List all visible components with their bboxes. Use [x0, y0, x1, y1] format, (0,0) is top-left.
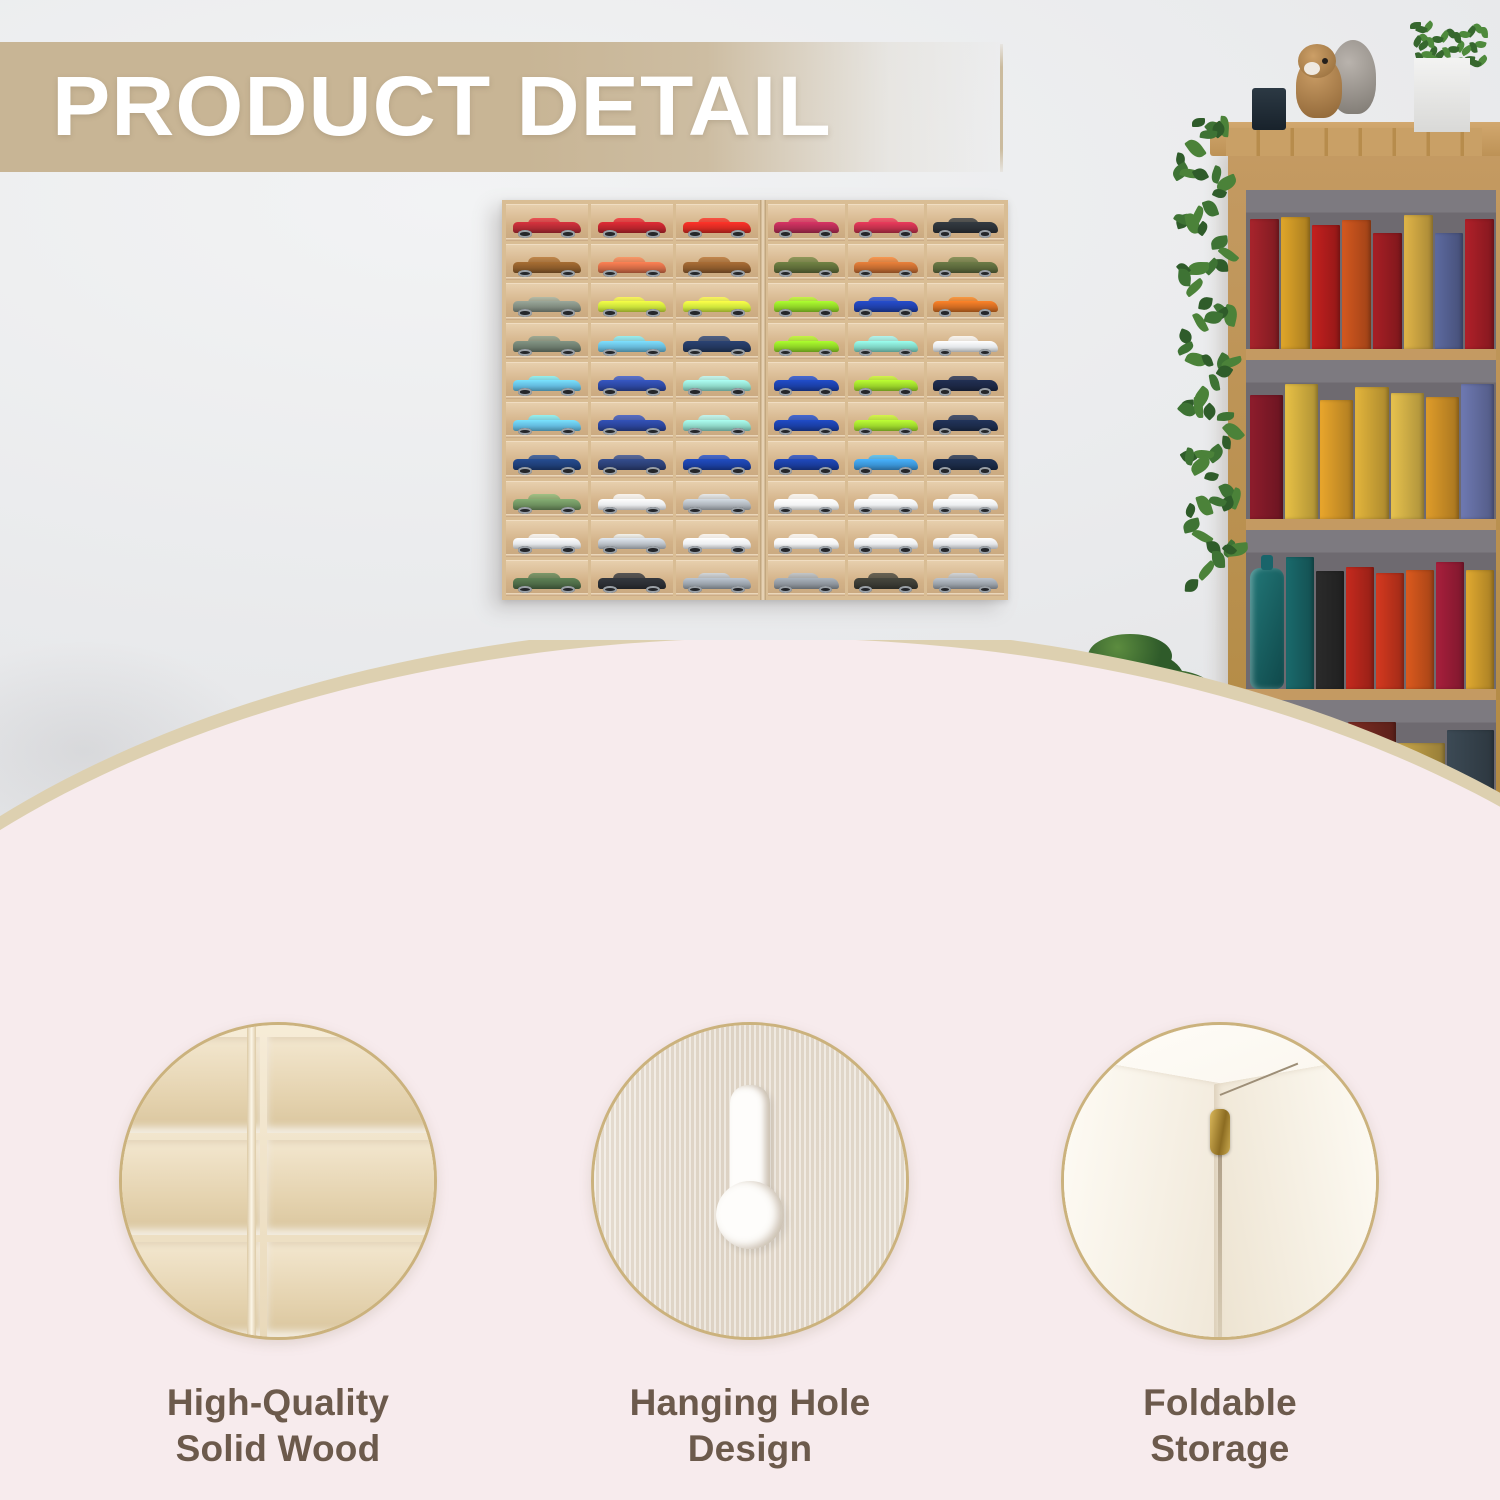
display-case-cell — [927, 402, 1004, 439]
squirrel-eye — [1322, 58, 1328, 64]
hero-room-scene: Your life PRODUCT DETAIL — [0, 0, 1500, 1005]
ivy-leaf — [1198, 296, 1213, 311]
toy-car — [774, 416, 838, 435]
display-case-cell — [768, 362, 845, 399]
dark-ceramic-pot — [1252, 88, 1286, 130]
toy-car — [774, 376, 838, 395]
toy-car — [774, 495, 838, 514]
toy-car — [513, 455, 582, 474]
toy-car — [774, 218, 838, 237]
display-case-cell — [927, 323, 1004, 360]
display-case-cell — [506, 362, 588, 399]
display-case-cell — [591, 520, 673, 557]
book-spine — [1426, 397, 1459, 519]
feature-caption-line-2: Storage — [990, 1426, 1450, 1472]
feature-caption: Foldable Storage — [990, 1380, 1450, 1472]
shelf-vertical-divider — [247, 1025, 256, 1337]
ivy-leaf — [1184, 136, 1207, 161]
ivy-leaf — [1192, 166, 1209, 183]
book-spine — [1285, 384, 1318, 519]
display-case-cell — [927, 362, 1004, 399]
display-case-cell — [768, 323, 845, 360]
toy-car — [854, 218, 918, 237]
toy-car — [683, 495, 752, 514]
keyhole-round-hole — [716, 1181, 784, 1249]
toy-car — [854, 534, 918, 553]
toy-car — [854, 337, 918, 356]
folded-panel-left — [1061, 1053, 1226, 1340]
toy-car — [598, 376, 667, 395]
compartment — [119, 1140, 260, 1235]
display-case-cell — [591, 560, 673, 597]
toy-car — [774, 258, 838, 277]
toy-car — [598, 297, 667, 316]
display-case-cell — [768, 244, 845, 281]
feature-caption: Hanging Hole Design — [520, 1380, 980, 1472]
squirrel-head — [1298, 44, 1336, 78]
display-case-right-panel — [764, 200, 1008, 600]
display-case-cell — [591, 204, 673, 241]
book-spine — [1461, 384, 1494, 519]
feature-image-hinge — [1061, 1022, 1379, 1340]
feature-caption-line-1: Hanging Hole — [520, 1380, 980, 1426]
toy-car — [854, 574, 918, 593]
display-case-cell — [506, 402, 588, 439]
display-case-cell — [927, 560, 1004, 597]
display-case-cell — [927, 520, 1004, 557]
toy-car — [598, 416, 667, 435]
toy-car — [598, 534, 667, 553]
feature-caption-line-2: Solid Wood — [48, 1426, 508, 1472]
book-spine — [1404, 215, 1433, 349]
planter-leaf — [1481, 27, 1488, 38]
toy-car — [513, 337, 582, 356]
display-case-cell — [848, 402, 925, 439]
ivy-leaf — [1195, 560, 1216, 581]
display-case-cell — [848, 204, 925, 241]
toy-car — [933, 534, 997, 553]
toy-car-display-case — [502, 200, 1008, 600]
feature-caption-line-1: Foldable — [990, 1380, 1450, 1426]
display-case-cell — [591, 283, 673, 320]
curved-divider — [0, 640, 1500, 1005]
page-title: PRODUCT DETAIL — [52, 58, 832, 155]
display-case-cell — [591, 323, 673, 360]
display-case-cell — [927, 481, 1004, 518]
display-case-cell — [506, 323, 588, 360]
display-case-cell — [768, 560, 845, 597]
toy-car — [854, 297, 918, 316]
toy-car — [683, 218, 752, 237]
display-case-cell — [591, 244, 673, 281]
display-case-cell — [506, 441, 588, 478]
toy-car — [683, 337, 752, 356]
product-detail-infographic: Your life PRODUCT DETAIL — [0, 0, 1500, 1500]
toy-car — [774, 297, 838, 316]
toy-car — [598, 495, 667, 514]
toy-car — [683, 258, 752, 277]
book-spine — [1391, 393, 1424, 519]
display-case-cell — [676, 402, 758, 439]
display-case-cell — [927, 283, 1004, 320]
display-case-cell — [676, 520, 758, 557]
folded-panel-right — [1214, 1053, 1379, 1340]
toy-car — [683, 376, 752, 395]
toy-car — [854, 495, 918, 514]
toy-car — [933, 376, 997, 395]
feature-caption-line-1: High-Quality — [48, 1380, 508, 1426]
display-case-cell — [768, 283, 845, 320]
toy-car — [513, 495, 582, 514]
display-case-cell — [768, 402, 845, 439]
compartment — [267, 1037, 437, 1132]
display-case-center-divider — [760, 200, 766, 600]
toy-car — [683, 416, 752, 435]
toy-car — [683, 534, 752, 553]
feature-image-shelf-compartments — [119, 1022, 437, 1340]
toy-car — [854, 258, 918, 277]
display-case-cell — [848, 362, 925, 399]
feature-hanging-hole-design: Hanging Hole Design — [520, 1008, 980, 1472]
toy-car — [598, 574, 667, 593]
white-ceramic-planter — [1414, 58, 1470, 132]
bookshelf-row — [1246, 360, 1496, 530]
header-vertical-rule — [1000, 44, 1003, 172]
display-case-cell — [927, 204, 1004, 241]
toy-car — [933, 337, 997, 356]
toy-car — [774, 455, 838, 474]
toy-car — [774, 574, 838, 593]
toy-car — [683, 574, 752, 593]
trailing-ivy-plant — [1178, 110, 1258, 610]
display-case-cell — [927, 244, 1004, 281]
display-case-cell — [676, 441, 758, 478]
toy-car — [598, 455, 667, 474]
display-case-cell — [506, 244, 588, 281]
display-case-cell — [506, 283, 588, 320]
display-case-cell — [506, 204, 588, 241]
feature-caption-line-2: Design — [520, 1426, 980, 1472]
toy-car — [513, 574, 582, 593]
toy-car — [683, 455, 752, 474]
display-case-cell — [591, 441, 673, 478]
squirrel-snout — [1304, 62, 1320, 75]
display-case-cell — [676, 323, 758, 360]
compartment — [267, 1242, 437, 1337]
plush-squirrel-toy — [1290, 38, 1376, 128]
display-case-cell — [676, 560, 758, 597]
book-spine — [1465, 219, 1494, 349]
display-case-cell — [848, 481, 925, 518]
display-case-cell — [848, 441, 925, 478]
display-case-left-panel — [502, 200, 762, 600]
display-case-cell — [848, 560, 925, 597]
ivy-leaf — [1192, 118, 1205, 127]
ivy-leaf — [1221, 436, 1231, 450]
toy-car — [933, 218, 997, 237]
toy-car — [933, 455, 997, 474]
book-spine — [1355, 387, 1388, 519]
feature-highlights: High-Quality Solid Wood Hanging Hole Des… — [0, 1008, 1500, 1500]
ivy-leaf — [1200, 129, 1218, 140]
toy-car — [933, 416, 997, 435]
ivy-leaf — [1217, 412, 1234, 422]
toy-car — [933, 258, 997, 277]
display-case-cell — [676, 244, 758, 281]
toy-car — [513, 258, 582, 277]
book-spine — [1373, 233, 1402, 349]
toy-car — [513, 416, 582, 435]
display-case-cell — [506, 560, 588, 597]
display-case-cell — [591, 402, 673, 439]
feature-foldable-storage: Foldable Storage — [990, 1008, 1450, 1472]
divider-pink-fill — [0, 640, 1500, 1005]
toy-car — [513, 376, 582, 395]
display-case-cell — [848, 323, 925, 360]
display-case-cell — [768, 204, 845, 241]
book-spine — [1435, 233, 1464, 349]
display-case-cell — [768, 441, 845, 478]
toy-car — [513, 297, 582, 316]
display-case-cell — [848, 244, 925, 281]
bookshelf-carved-trim — [1226, 128, 1482, 156]
display-case-cell — [676, 481, 758, 518]
toy-car — [598, 258, 667, 277]
toy-car — [774, 337, 838, 356]
toy-car — [774, 534, 838, 553]
toy-car — [854, 455, 918, 474]
display-case-cell — [506, 481, 588, 518]
toy-car — [933, 297, 997, 316]
feature-high-quality-solid-wood: High-Quality Solid Wood — [48, 1008, 508, 1472]
toy-car — [513, 534, 582, 553]
display-case-cell — [768, 481, 845, 518]
toy-car — [683, 297, 752, 316]
display-case-cell — [676, 283, 758, 320]
planter-leaf — [1454, 32, 1461, 43]
display-case-cell — [676, 204, 758, 241]
ivy-leaf — [1201, 199, 1219, 219]
display-case-cell — [676, 362, 758, 399]
compartment — [119, 1037, 260, 1132]
compartment — [119, 1242, 260, 1337]
shelf-compartment-grid — [119, 1037, 437, 1337]
book-spine — [1281, 217, 1310, 349]
compartment — [267, 1140, 437, 1235]
ivy-leaf — [1185, 579, 1199, 593]
display-case-cell — [506, 520, 588, 557]
book-spine — [1320, 400, 1353, 519]
brass-hinge-icon — [1210, 1109, 1230, 1155]
feature-image-hanging-hole — [591, 1022, 909, 1340]
display-case-cell — [848, 520, 925, 557]
toy-car — [598, 337, 667, 356]
display-case-cell — [927, 441, 1004, 478]
toy-car — [933, 574, 997, 593]
toy-car — [513, 218, 582, 237]
toy-car — [598, 218, 667, 237]
toy-car — [854, 416, 918, 435]
book-spine — [1312, 225, 1341, 349]
display-case-cell — [591, 362, 673, 399]
display-case-cell — [768, 520, 845, 557]
ivy-leaf — [1183, 503, 1197, 519]
ivy-leaf — [1204, 470, 1219, 483]
display-case-cell — [848, 283, 925, 320]
display-case-cell — [591, 481, 673, 518]
toy-car — [854, 376, 918, 395]
bookshelf-row — [1246, 190, 1496, 360]
toy-car — [933, 495, 997, 514]
feature-caption: High-Quality Solid Wood — [48, 1380, 508, 1472]
book-spine — [1342, 220, 1371, 349]
